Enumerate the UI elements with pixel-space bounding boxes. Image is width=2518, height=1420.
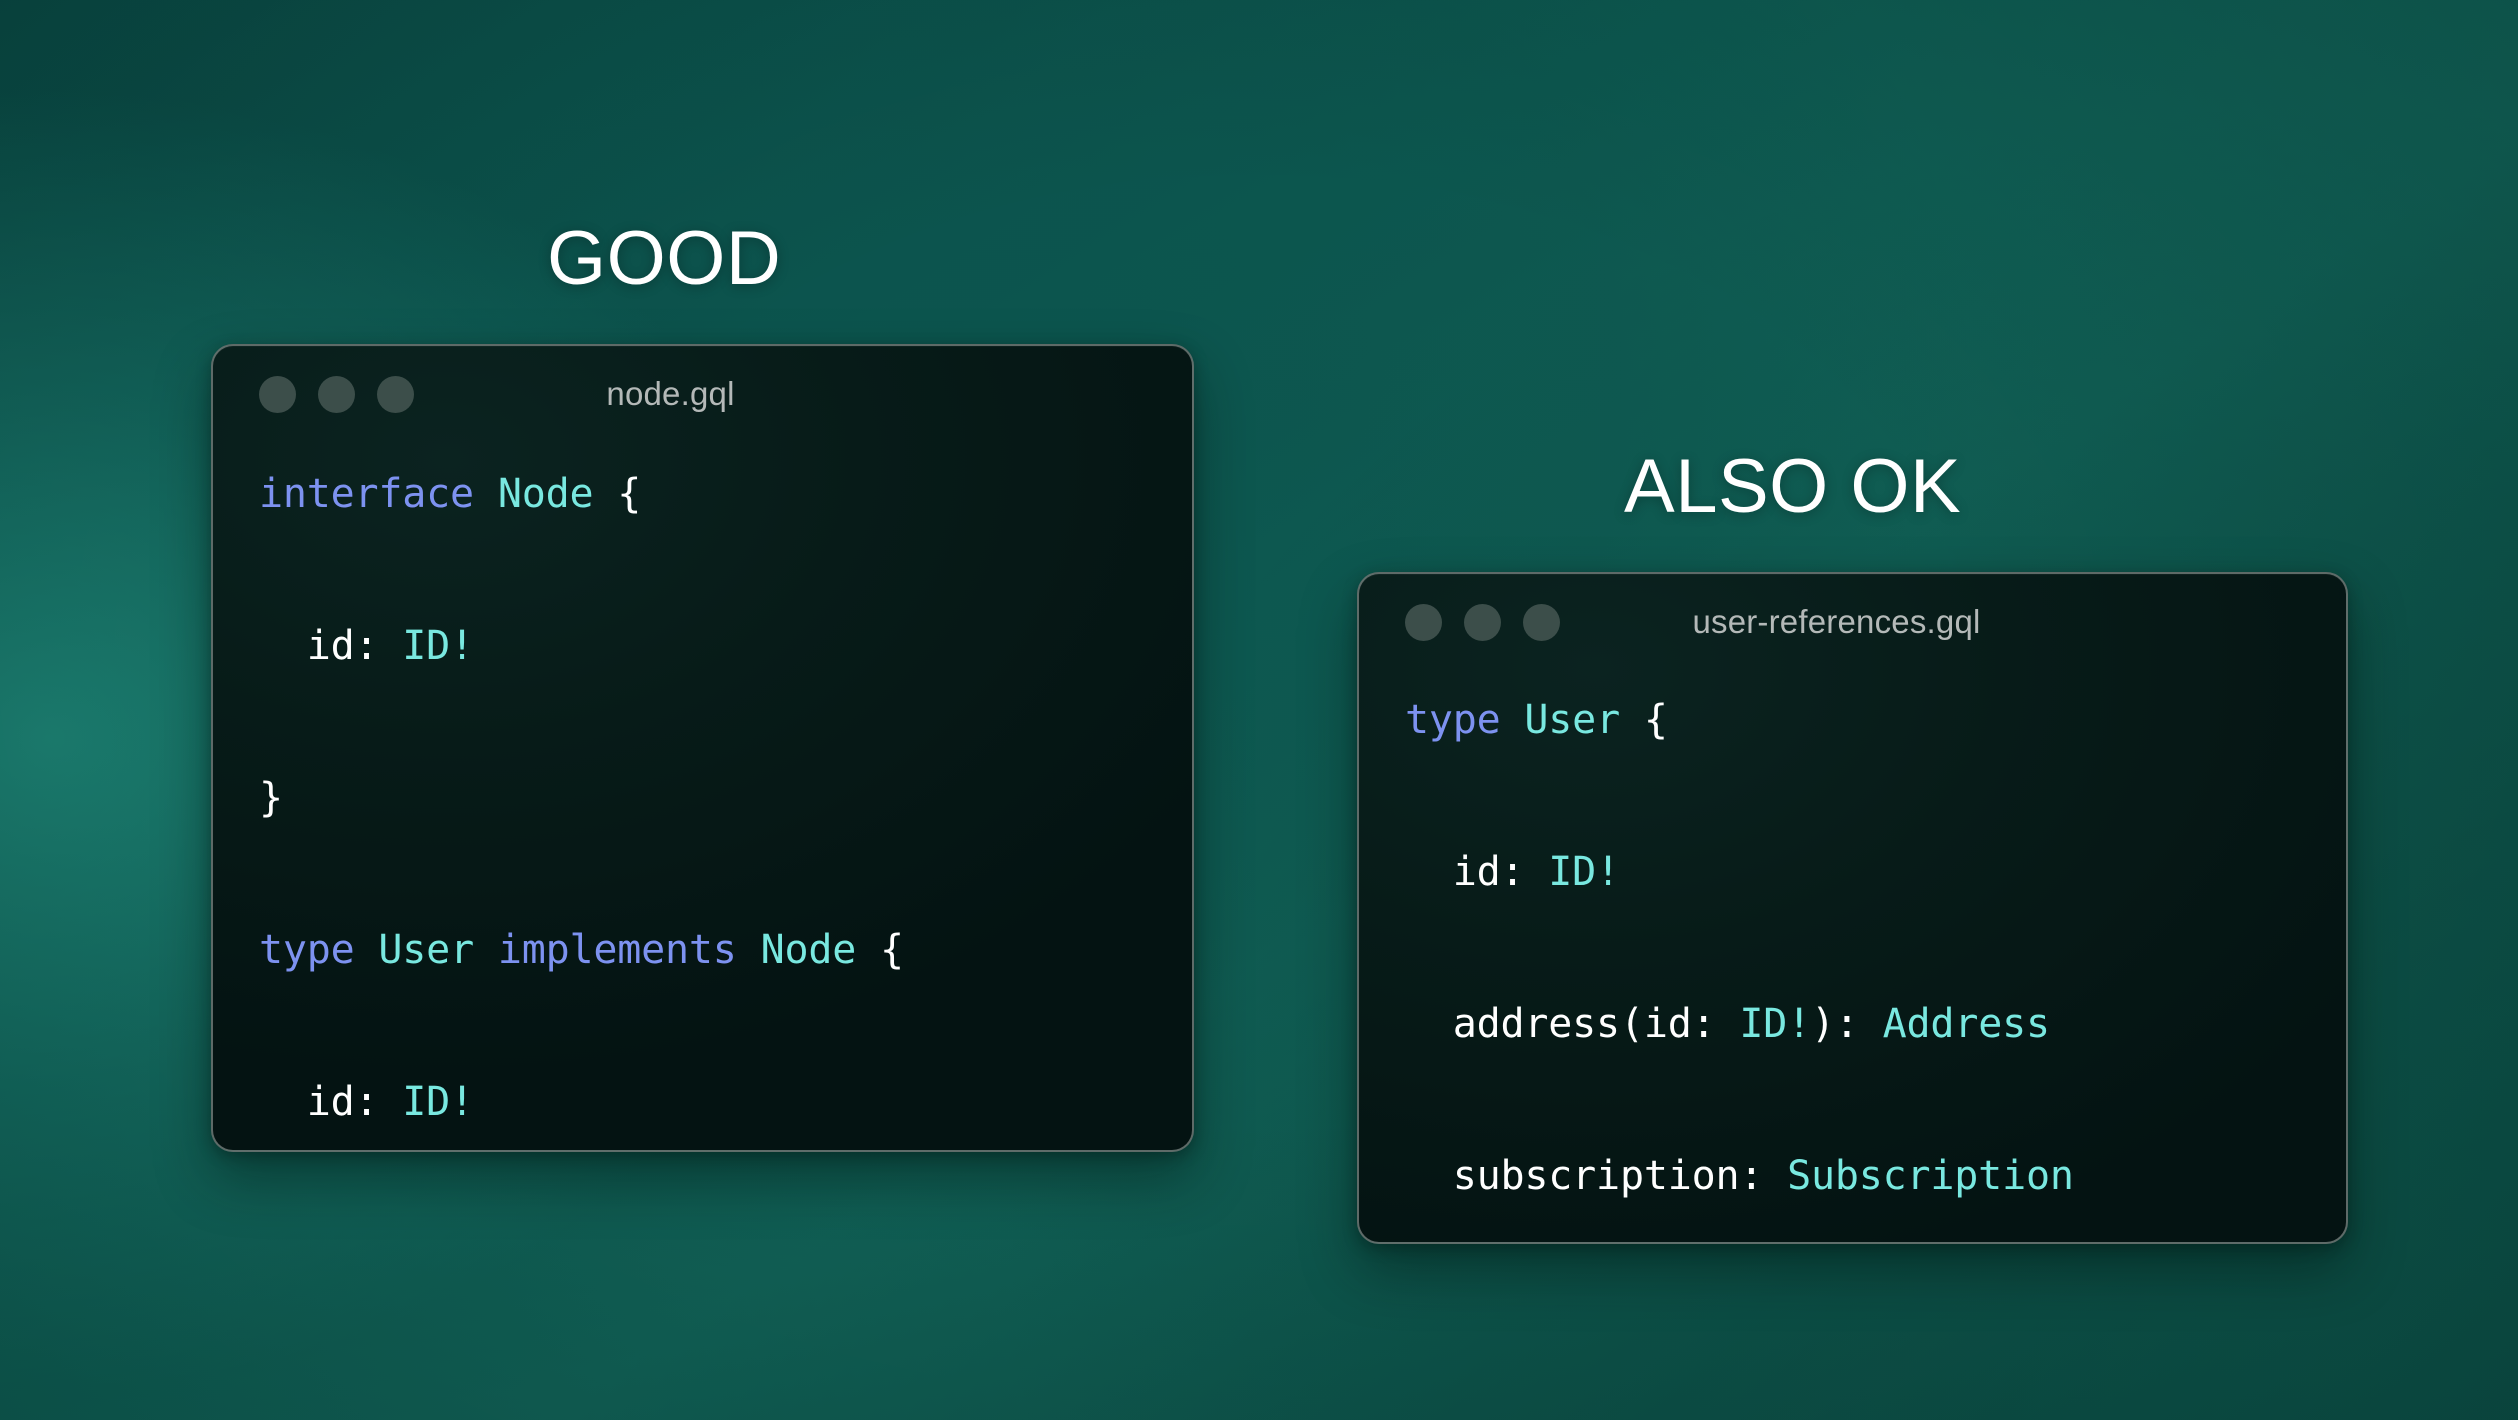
code-line: type User implements Node { xyxy=(259,912,1192,988)
code-token-type: Node xyxy=(761,927,857,973)
code-token-plain xyxy=(1501,697,1525,743)
code-token-type: ID! xyxy=(1739,1001,1811,1047)
code-token-plain: { xyxy=(593,471,641,517)
code-line: type User { xyxy=(1405,682,2346,758)
code-line: id: ID! xyxy=(259,608,1192,684)
close-dot-icon[interactable] xyxy=(259,376,296,413)
code-token-type: Node xyxy=(498,471,594,517)
code-token-kw: interface xyxy=(259,471,474,517)
close-dot-icon[interactable] xyxy=(1405,604,1442,641)
code-token-type: ID! xyxy=(402,1079,474,1125)
code-token-plain xyxy=(355,927,379,973)
traffic-lights-good xyxy=(259,376,414,413)
code-token-type: ID! xyxy=(1548,849,1620,895)
code-token-plain: id: xyxy=(259,1079,402,1125)
code-token-plain xyxy=(737,927,761,973)
traffic-lights-also-ok xyxy=(1405,604,1560,641)
code-token-type: ID! xyxy=(402,623,474,669)
heading-also-ok: ALSO OK xyxy=(1624,444,1961,530)
code-line: id: ID! xyxy=(259,1064,1192,1140)
code-token-plain: id: xyxy=(1405,849,1548,895)
maximize-dot-icon[interactable] xyxy=(1523,604,1560,641)
code-block-also-ok: type User { id: ID! address(id: ID!): Ad… xyxy=(1359,670,2346,1244)
minimize-dot-icon[interactable] xyxy=(1464,604,1501,641)
code-token-plain xyxy=(474,927,498,973)
code-token-plain: { xyxy=(856,927,904,973)
code-token-type: Address xyxy=(1883,1001,2050,1047)
code-token-kw: implements xyxy=(498,927,737,973)
code-line: interface Node { xyxy=(259,456,1192,532)
heading-good: GOOD xyxy=(547,216,781,302)
code-window-good: node.gql interface Node { id: ID! } type… xyxy=(211,344,1194,1152)
code-line: id: ID! xyxy=(1405,834,2346,910)
code-token-plain: ): xyxy=(1811,1001,1883,1047)
code-token-plain: { xyxy=(1620,697,1668,743)
code-token-plain: } xyxy=(259,775,283,821)
code-token-plain: address(id: xyxy=(1405,1001,1739,1047)
code-token-type: User xyxy=(378,927,474,973)
code-token-plain: id: xyxy=(259,623,402,669)
code-window-also-ok: user-references.gql type User { id: ID! … xyxy=(1357,572,2348,1244)
code-token-type: User xyxy=(1524,697,1620,743)
code-line: } xyxy=(259,760,1192,836)
code-token-type: Subscription xyxy=(1787,1153,2074,1199)
titlebar-good: node.gql xyxy=(213,346,1192,442)
code-token-kw: type xyxy=(259,927,355,973)
minimize-dot-icon[interactable] xyxy=(318,376,355,413)
code-line: subscription: Subscription xyxy=(1405,1138,2346,1214)
code-token-plain: subscription: xyxy=(1405,1153,1787,1199)
titlebar-also-ok: user-references.gql xyxy=(1359,574,2346,670)
maximize-dot-icon[interactable] xyxy=(377,376,414,413)
code-token-plain xyxy=(474,471,498,517)
code-token-kw: type xyxy=(1405,697,1501,743)
code-block-good: interface Node { id: ID! } type User imp… xyxy=(213,442,1192,1152)
code-line: address(id: ID!): Address xyxy=(1405,986,2346,1062)
